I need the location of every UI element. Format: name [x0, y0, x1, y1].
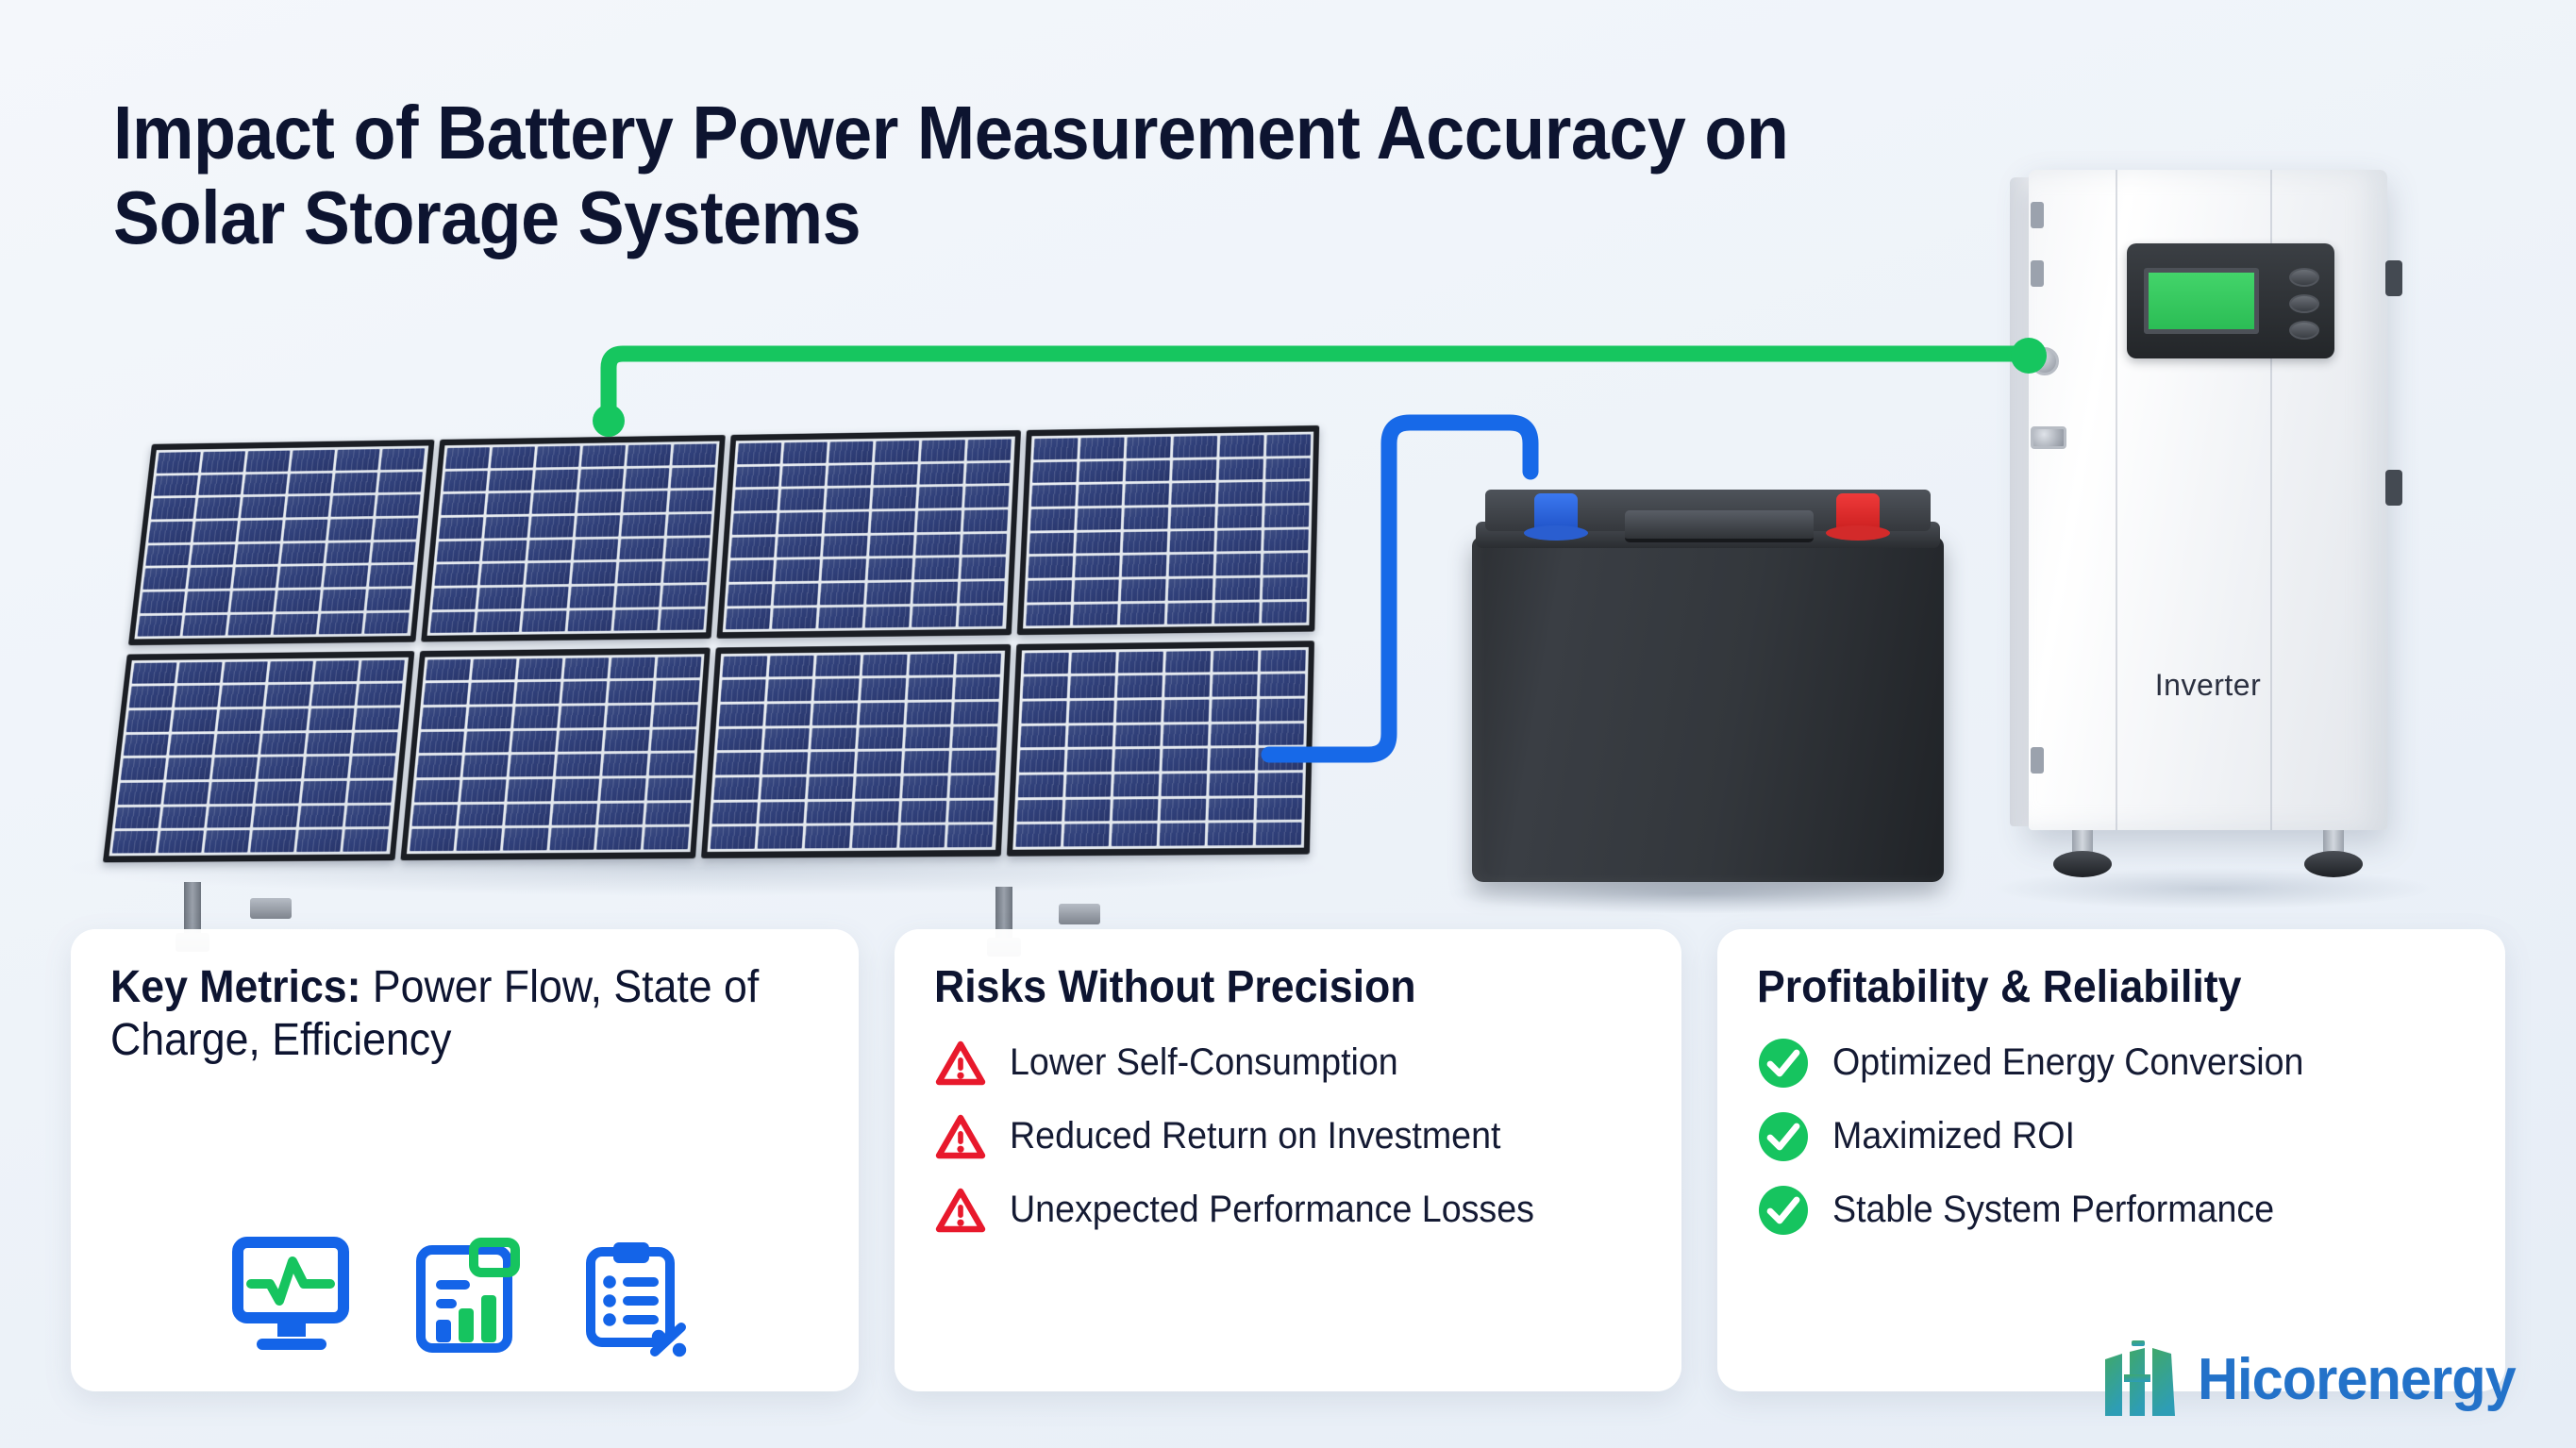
solar-cell [577, 491, 622, 513]
solar-cell [1063, 824, 1110, 847]
solar-cell [822, 559, 867, 581]
solar-cell [1264, 506, 1310, 527]
solar-cell [374, 518, 418, 540]
list-item-label: Optimized Energy Conversion [1832, 1041, 2303, 1084]
solar-cell [228, 614, 274, 636]
solar-cell [606, 706, 651, 727]
solar-cell [954, 702, 999, 724]
solar-cell [1169, 530, 1214, 552]
solar-cell [596, 827, 643, 850]
solar-cell [462, 756, 508, 777]
solar-cell [1066, 750, 1112, 773]
solar-cell [711, 826, 757, 849]
solar-cell [1216, 530, 1262, 552]
solar-cell [734, 490, 778, 511]
solar-cell [623, 491, 667, 513]
solar-cell [1070, 652, 1115, 674]
solar-cell [1211, 724, 1256, 746]
inverter-label: Inverter [2029, 668, 2387, 703]
solar-cell [608, 681, 653, 703]
solar-cell [966, 462, 1011, 484]
solar-cell [1126, 437, 1170, 458]
solar-cell [138, 615, 183, 637]
solar-cell [1171, 483, 1215, 505]
solar-cell [141, 591, 186, 613]
solar-cell [759, 802, 805, 824]
solar-cell [112, 831, 158, 853]
solar-cell [476, 611, 521, 633]
report-barchart-icon[interactable] [411, 1237, 525, 1357]
solar-cell [1210, 748, 1255, 771]
solar-cell [297, 830, 343, 852]
card-risks-heading: Risks Without Precision [934, 961, 1593, 1014]
solar-cell [1259, 699, 1304, 722]
solar-cell [132, 662, 177, 684]
solar-cell [610, 657, 655, 678]
solar-cell [581, 445, 626, 467]
solar-cell [900, 825, 946, 848]
solar-cell [574, 539, 618, 560]
solar-cell [172, 709, 217, 731]
solar-cell [653, 705, 698, 726]
solar-cell [820, 583, 865, 605]
solar-cell [722, 656, 767, 677]
solar-cell [730, 537, 775, 558]
solar-cell [268, 660, 313, 682]
solar-cell [1214, 602, 1260, 624]
list-item[interactable]: Lower Self-Consumption [934, 1037, 1643, 1090]
solar-cell [1065, 774, 1112, 797]
solar-cell [1015, 824, 1062, 847]
solar-cell [418, 731, 463, 753]
solar-cell [324, 566, 368, 588]
solar-cell [118, 782, 163, 804]
solar-cell [522, 610, 567, 632]
solar-cell [482, 540, 527, 561]
solar-cell [311, 684, 357, 706]
inverter-right-latch [2385, 470, 2402, 506]
solar-cell [429, 611, 475, 633]
solar-cell [302, 781, 347, 803]
solar-cell [556, 755, 601, 776]
solar-cell [959, 605, 1004, 626]
solar-cell [828, 441, 873, 463]
solar-cell [531, 492, 576, 514]
solar-cell [471, 658, 516, 680]
solar-cell [486, 493, 530, 515]
solar-cell [177, 662, 223, 684]
list-item[interactable]: Optimized Energy Conversion [1757, 1037, 2466, 1090]
solar-cell [1218, 482, 1263, 504]
solar-cell [651, 729, 696, 751]
solar-cell [905, 726, 950, 748]
list-item-label: Lower Self-Consumption [1010, 1041, 1398, 1084]
solar-cell [965, 486, 1010, 508]
solar-cell [286, 496, 330, 518]
solar-cell [871, 511, 915, 533]
solar-cell [920, 463, 964, 485]
solar-cell [469, 683, 514, 705]
solar-cell [163, 782, 209, 804]
solar-cell [533, 469, 577, 491]
solar-cell [649, 754, 694, 775]
solar-cell [1029, 508, 1074, 530]
solar-cell [615, 586, 661, 607]
solar-cell [166, 757, 211, 779]
solar-cell [246, 451, 291, 472]
solar-cell [1017, 774, 1062, 797]
solar-cell [855, 776, 900, 799]
solar-cell [201, 451, 245, 472]
solar-cell [1266, 434, 1311, 456]
solar-cell [916, 534, 962, 556]
solar-cell [758, 826, 804, 849]
solar-cell [912, 606, 957, 627]
solar-cell [728, 560, 774, 582]
solar-cell [619, 538, 663, 559]
solar-cell [955, 677, 1000, 699]
system-diagram-scene: Inverter [0, 264, 2576, 924]
solar-cell [857, 752, 902, 774]
solar-cell [169, 734, 214, 756]
solar-cell [571, 562, 616, 584]
solar-cell [1262, 601, 1307, 623]
card-key-metrics: Key Metrics: Power Flow, State of Charge… [71, 929, 859, 1391]
solar-cell [805, 826, 851, 849]
solar-panel [103, 651, 414, 862]
solar-cell [1260, 674, 1305, 697]
solar-cell [1074, 579, 1119, 601]
solar-cell [644, 827, 690, 850]
solar-cell [812, 703, 858, 724]
solar-cell [600, 778, 645, 800]
solar-cell [1021, 701, 1066, 724]
inverter-unit: Inverter [2010, 170, 2406, 887]
solar-cell [207, 806, 252, 827]
solar-cell [1027, 580, 1072, 602]
solar-cell [625, 468, 669, 490]
solar-cell [761, 777, 806, 800]
solar-cell [1162, 749, 1207, 772]
solar-cell [852, 825, 898, 848]
solar-cell [441, 493, 485, 515]
solar-cell [423, 683, 468, 705]
solar-cell [256, 781, 301, 803]
solar-cell [647, 778, 693, 801]
solar-cell [617, 561, 662, 583]
panel-row-bottom [103, 641, 1314, 862]
solar-cell [1030, 485, 1075, 507]
inverter-connector-knob[interactable] [2031, 347, 2059, 375]
card-profitability: Profitability & Reliability Optimized En… [1717, 929, 2505, 1391]
solar-cell [145, 544, 190, 566]
info-cards-row: Key Metrics: Power Flow, State of Charge… [0, 929, 2576, 1391]
inverter-lcd-screen[interactable] [2144, 268, 2259, 334]
solar-cell [1117, 675, 1163, 697]
solar-cell [732, 513, 777, 535]
solar-cell [1022, 676, 1067, 698]
solar-cell [1079, 460, 1123, 482]
solar-cell [299, 806, 344, 827]
solar-cell [1020, 725, 1065, 748]
solar-cell [333, 473, 377, 494]
solar-cell [414, 780, 460, 802]
inverter-vent-clip [2031, 260, 2044, 287]
solar-cell [952, 726, 997, 749]
solar-cell [656, 657, 701, 678]
battery-carry-handle [1625, 510, 1814, 542]
solar-cell [1124, 484, 1168, 506]
solar-cell [148, 522, 192, 543]
solar-cell [604, 729, 649, 751]
solar-cell [511, 730, 557, 752]
solar-cell [902, 775, 947, 798]
solar-cell [372, 541, 416, 563]
solar-cell [154, 475, 198, 496]
page-title: Impact of Battery Power Measurement Accu… [113, 91, 2110, 259]
solar-cell [558, 730, 603, 752]
solar-cell [779, 489, 824, 510]
solar-cell [767, 679, 812, 701]
list-item[interactable]: Unexpected Performance Losses [934, 1184, 1643, 1237]
solar-cell [289, 473, 333, 493]
solar-cell [239, 520, 283, 541]
solar-cell [627, 444, 671, 466]
solar-cell [728, 584, 773, 606]
solar-cell [212, 757, 258, 779]
battery-positive-terminal [1836, 493, 1880, 535]
solar-cell [191, 544, 235, 566]
solar-cell [464, 731, 510, 753]
solar-cell [378, 472, 423, 493]
solar-cell [376, 494, 421, 516]
solar-cell [918, 487, 962, 508]
solar-cell [314, 660, 360, 682]
solar-cell [1215, 554, 1261, 575]
check-circle-icon [1757, 1184, 1810, 1237]
solar-cell [1259, 724, 1304, 746]
solar-cell [1120, 579, 1165, 601]
solar-cell [1261, 650, 1306, 672]
solar-cell [527, 540, 572, 561]
solar-cell [1033, 438, 1078, 459]
solar-cell [765, 704, 811, 725]
solar-cell [713, 777, 759, 800]
solar-cell [1170, 507, 1215, 528]
solar-cell [1116, 700, 1162, 723]
solar-cell [241, 497, 285, 519]
solar-cell [358, 684, 403, 706]
solar-cell [569, 586, 614, 607]
solar-cell [421, 707, 466, 729]
solar-cell [712, 802, 759, 824]
inverter-button-mode[interactable] [2289, 294, 2319, 313]
monitor-waveform-icon[interactable] [232, 1237, 357, 1354]
check-circle-icon [1757, 1037, 1810, 1090]
solar-cell [1265, 458, 1310, 479]
solar-cell [874, 464, 918, 486]
solar-cell [236, 543, 280, 565]
solar-cell [1257, 773, 1303, 795]
solar-cell [1073, 604, 1118, 625]
solar-cell [503, 828, 549, 851]
solar-cell [491, 446, 535, 468]
inverter-vent-clip [2031, 747, 2044, 774]
solar-cell [951, 751, 996, 774]
solar-cell [1212, 699, 1257, 722]
solar-cell [488, 470, 532, 491]
inverter-cable-gland[interactable] [2031, 426, 2066, 449]
solar-cell [367, 589, 412, 610]
solar-cell [901, 801, 947, 824]
solar-cell [218, 709, 263, 731]
solar-cell [1019, 750, 1064, 773]
solar-cell [1164, 675, 1210, 697]
warning-triangle-icon [934, 1110, 987, 1163]
solar-cell [1217, 506, 1263, 527]
solar-cell [862, 654, 908, 675]
solar-panel [716, 430, 1020, 639]
solar-cell [1026, 605, 1071, 626]
solar-cell [1160, 798, 1206, 821]
solar-cell [967, 439, 1012, 460]
solar-cell [818, 607, 863, 628]
solar-cell [1218, 458, 1263, 480]
solar-cell [948, 800, 995, 823]
list-item-label: Reduced Return on Investment [1010, 1115, 1500, 1157]
list-item[interactable]: Stable System Performance [1757, 1184, 2466, 1237]
solar-cell [560, 706, 605, 727]
solar-cell [869, 535, 914, 557]
solar-cell [1168, 555, 1213, 576]
solar-cell [567, 609, 612, 631]
solar-cell [1264, 482, 1309, 504]
card-key-metrics-heading-bold: Key Metrics: [110, 962, 360, 1012]
solar-cell [775, 559, 820, 581]
solar-cell [1212, 674, 1257, 697]
warning-triangle-icon [934, 1037, 987, 1090]
solar-cell [576, 515, 620, 537]
solar-cell [416, 756, 461, 777]
solar-cell [198, 474, 243, 495]
solar-cell [1078, 484, 1122, 506]
solar-cell [223, 661, 268, 683]
solar-cell [828, 465, 872, 487]
solar-cell [660, 608, 705, 630]
solar-cell [1256, 823, 1302, 845]
solar-cell [157, 452, 201, 473]
clipboard-checklist-icon[interactable] [579, 1237, 696, 1359]
solar-cell [781, 465, 826, 487]
solar-cell [860, 703, 905, 724]
solar-cell [914, 558, 960, 579]
solar-cell [772, 607, 817, 629]
solar-cell [865, 607, 911, 628]
inverter-foot [2323, 830, 2344, 862]
inverter-button-power[interactable] [2289, 268, 2319, 287]
solar-panel [1006, 641, 1314, 857]
solar-cell [671, 467, 715, 489]
solar-cell [1159, 824, 1205, 846]
list-item[interactable]: Maximized ROI [1757, 1110, 2466, 1163]
solar-cell [721, 680, 766, 702]
solar-cell [1123, 508, 1167, 529]
solar-cell [278, 566, 323, 588]
solar-cell [1258, 748, 1303, 771]
solar-cell [762, 753, 808, 774]
solar-cell [1115, 724, 1161, 747]
solar-cell [355, 707, 400, 729]
solar-cell [783, 442, 828, 464]
solar-cell [872, 488, 916, 509]
solar-cell [326, 542, 371, 564]
list-item-label: Unexpected Performance Losses [1010, 1189, 1534, 1231]
solar-cell [1112, 824, 1158, 846]
card-key-metrics-heading: Key Metrics: Power Flow, State of Charge… [110, 961, 769, 1066]
solar-cell [737, 442, 781, 464]
solar-panel [400, 647, 711, 860]
solar-cell [1256, 798, 1302, 821]
solar-cell [445, 447, 490, 469]
solar-cell [561, 681, 607, 703]
solar-cell [350, 757, 395, 778]
solar-cell [215, 733, 260, 755]
solar-cell [1125, 460, 1169, 482]
solar-cell [434, 564, 479, 586]
solar-cell [808, 776, 853, 799]
solar-cell [479, 563, 525, 585]
solar-cell [861, 678, 906, 700]
solar-cell [907, 702, 952, 724]
solar-cell [908, 678, 953, 700]
solar-cell [526, 563, 571, 585]
solar-cell [276, 590, 321, 611]
solar-cell [1069, 676, 1114, 698]
solar-cell [654, 680, 699, 702]
solar-cell [1075, 556, 1120, 577]
solar-cell [263, 708, 309, 730]
solar-cell [196, 497, 241, 519]
solar-cell [343, 829, 390, 851]
solar-cell [175, 686, 220, 707]
solar-cell [309, 708, 355, 730]
solar-cell [336, 449, 380, 470]
solar-cell [1077, 508, 1121, 530]
solar-cell [665, 538, 710, 559]
solar-cell [185, 591, 230, 612]
solar-cell [253, 806, 298, 827]
solar-cell [250, 830, 296, 852]
solar-cell [259, 757, 304, 778]
brand-logo[interactable]: Hicorenergy [2101, 1337, 2529, 1422]
solar-cell [1064, 799, 1111, 822]
list-item[interactable]: Reduced Return on Investment [934, 1110, 1643, 1163]
solar-cell [807, 801, 853, 824]
solar-cell [563, 657, 609, 679]
solar-cell [1112, 799, 1159, 822]
solar-cell [1163, 700, 1209, 723]
solar-cell [1118, 651, 1163, 673]
solar-cell [1172, 459, 1216, 481]
solar-cell [826, 488, 870, 509]
solar-cell [517, 658, 562, 680]
inverter-button-enter[interactable] [2289, 321, 2319, 340]
solar-cell [509, 755, 554, 776]
battery-case [1472, 537, 1944, 882]
profitability-list: Optimized Energy Conversion Maximized RO… [1757, 1037, 2466, 1237]
solar-cell [515, 682, 560, 704]
solar-cell [875, 441, 919, 462]
